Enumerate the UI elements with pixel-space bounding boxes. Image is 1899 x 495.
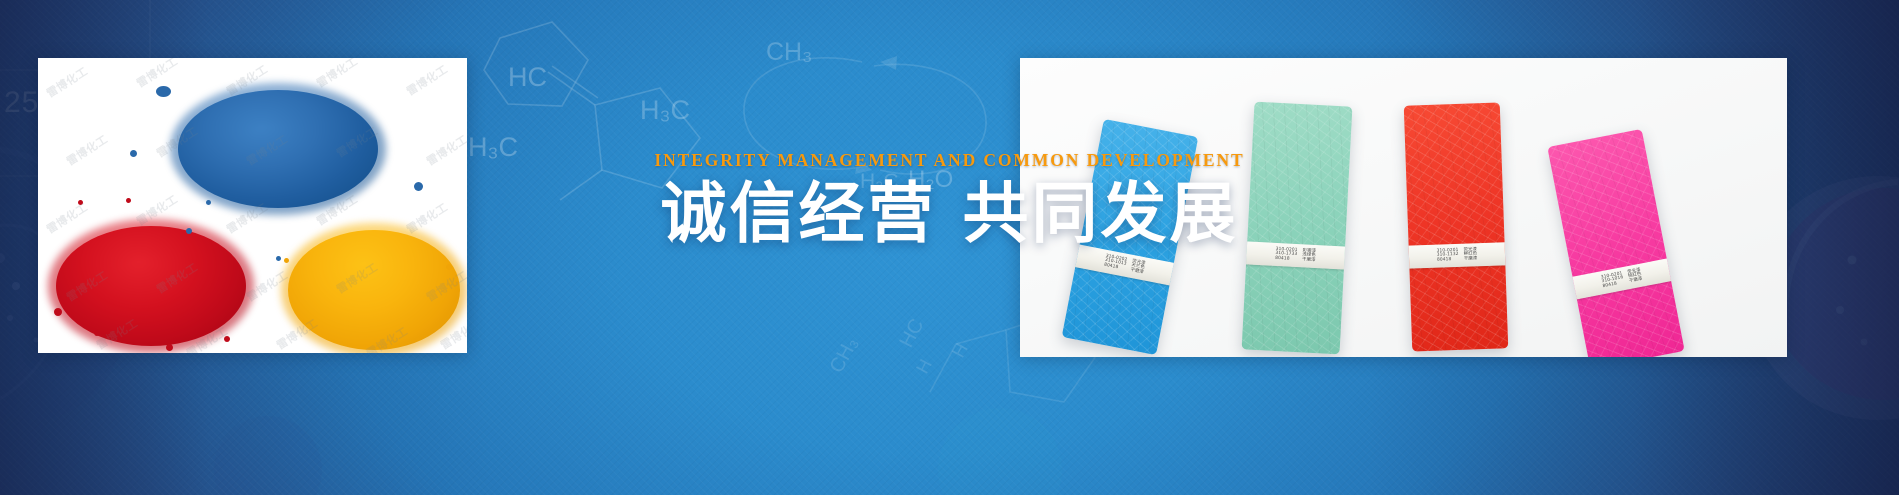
pigment-speck: [166, 344, 173, 351]
headline-part-1: 诚信经营: [661, 175, 937, 252]
watermark-text: 雷博化工: [403, 61, 450, 99]
card-code-list: 310-0202 310-1013 80418: [1103, 255, 1127, 272]
card-name-list: 荧光漆 桃红色 干磨漆: [1627, 268, 1643, 284]
banner-text-block: INTEGRITY MANAGEMENT AND COMMON DEVELOPM…: [0, 150, 1899, 251]
chem-label-ch3-c: CH₃: [826, 334, 864, 377]
chem-label-ch3-a: CH₃: [766, 38, 812, 67]
watermark-text: 雷博化工: [133, 58, 180, 91]
card-code: 80418: [1437, 258, 1459, 263]
chem-label-hc-b: HC: [896, 315, 930, 351]
card-label: 干磨漆: [1130, 268, 1144, 275]
card-name-list: 荧光漆 天兰色 干磨漆: [1130, 260, 1146, 276]
card-name-list: 彩钢漆 浅绿色 干磨漆: [1302, 249, 1316, 263]
card-label: 干磨漆: [1302, 258, 1316, 263]
promo-banner: 250 HC H₃C H₃C CH₃ CH₃ H₂C H₂O H₃C HC CH…: [0, 0, 1899, 495]
pigment-speck: [54, 308, 62, 316]
chem-label-h-a: H: [912, 356, 937, 377]
pigment-speck: [276, 256, 281, 261]
pigment-speck: [224, 336, 230, 342]
watermark-text: 雷博化工: [313, 58, 360, 91]
pigment-speck: [156, 86, 171, 97]
pigment-speck: [94, 330, 100, 336]
banner-eyebrow-text: INTEGRITY MANAGEMENT AND COMMON DEVELOPM…: [0, 150, 1899, 171]
pigment-speck: [446, 264, 452, 270]
watermark-text: 雷博化工: [43, 63, 90, 101]
card-label: 干磨漆: [1464, 257, 1478, 262]
chem-label-h-b: H: [948, 340, 973, 361]
card-code-list: 310-0201 310-1016 80418: [1601, 272, 1625, 289]
page-title: 诚信经营共同发展: [0, 177, 1899, 251]
headline-part-2: 共同发展: [963, 175, 1239, 252]
chem-label-h3c-b: H₃C: [640, 95, 690, 126]
card-label: 干磨漆: [1629, 277, 1643, 284]
pigment-speck: [284, 258, 289, 263]
chem-label-hc: HC: [508, 62, 547, 93]
card-code: 80418: [1275, 257, 1297, 263]
